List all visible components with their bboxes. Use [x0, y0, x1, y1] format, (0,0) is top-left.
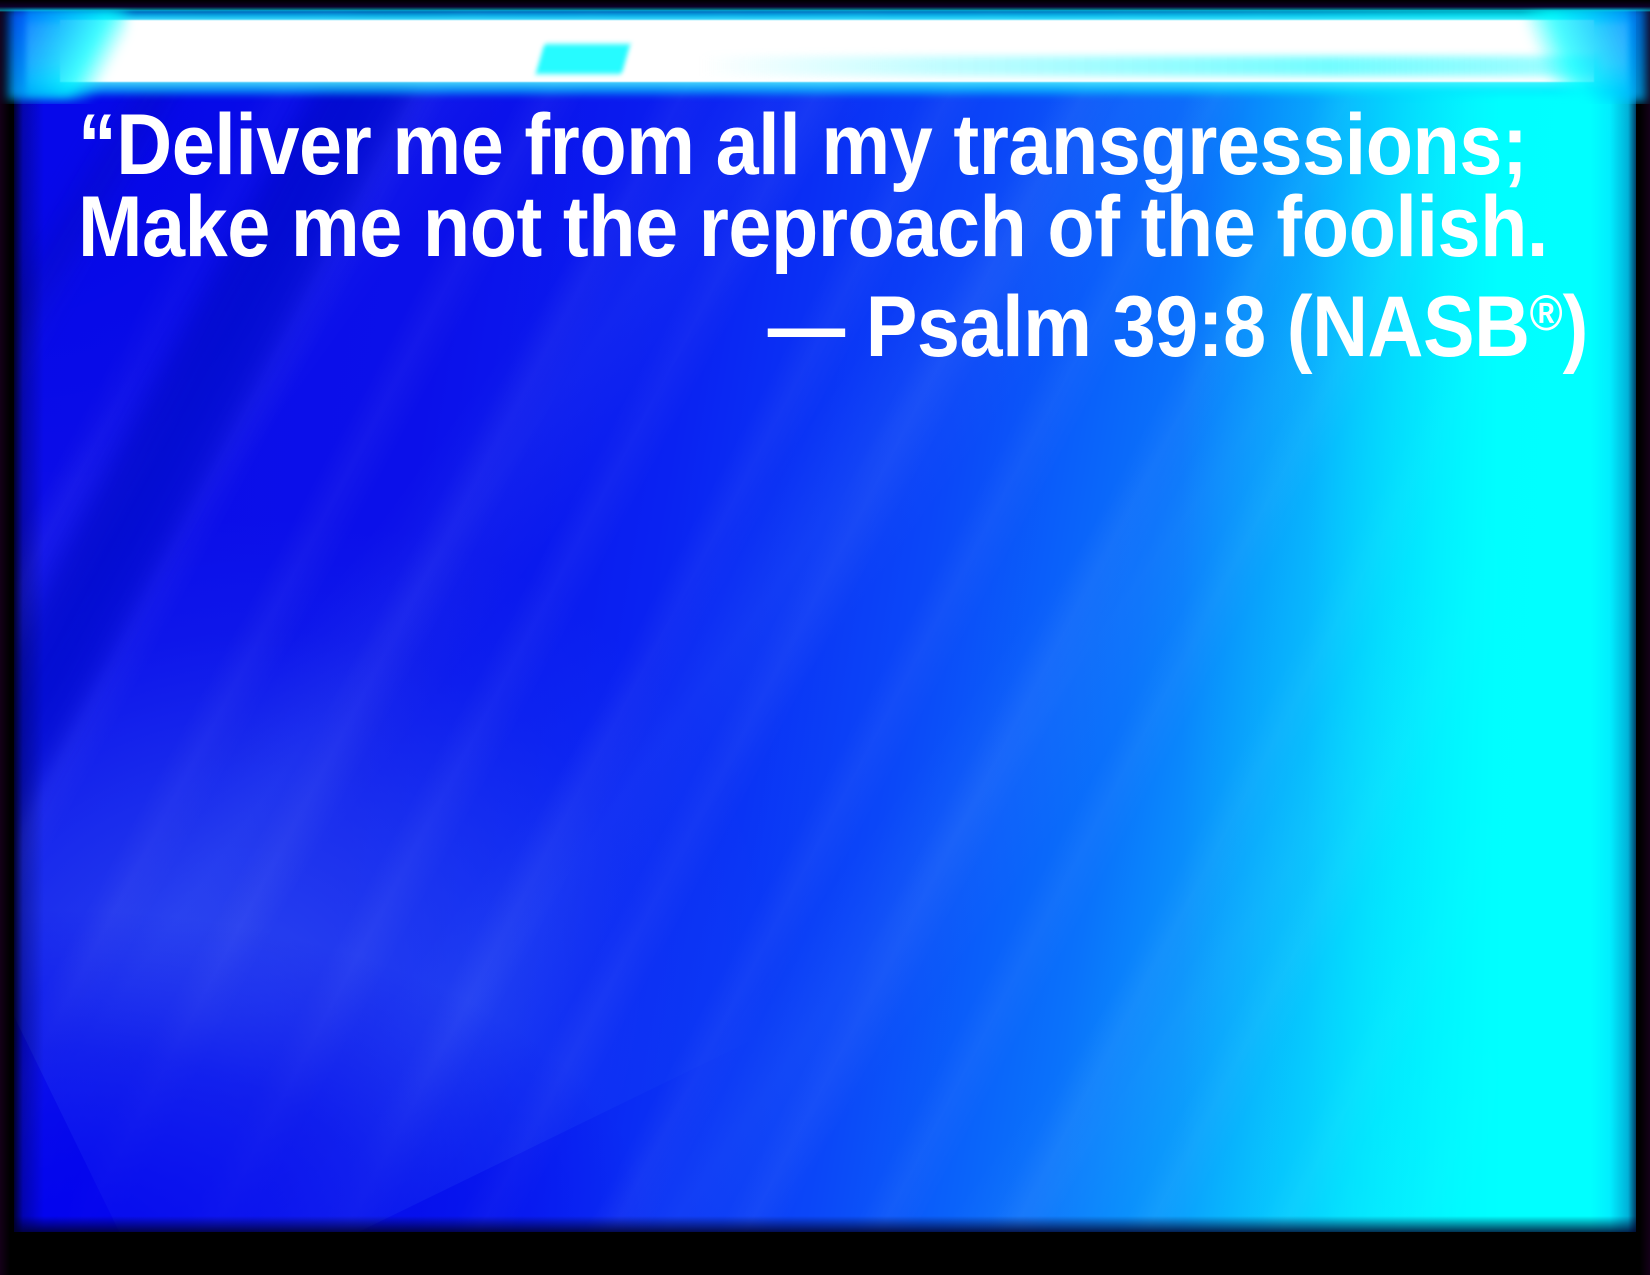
verse-slide: “Deliver me from all my transgressions; … — [0, 0, 1650, 1275]
top-edge-line — [0, 0, 1650, 12]
verse-line-2: Make me not the reproach of the foolish. — [78, 186, 1437, 268]
top-glow-cyan-streak — [700, 56, 1600, 76]
verse-attribution-suffix: ) — [1563, 279, 1588, 375]
top-glow-right-wedge — [1526, 6, 1646, 102]
verse-attribution: — Psalm 39:8 (NASB®) — [229, 268, 1588, 368]
top-glow-cyan-smear — [536, 44, 631, 74]
verse-text-block: “Deliver me from all my transgressions; … — [0, 104, 1650, 368]
verse-attribution-prefix: — Psalm 39:8 (NASB — [768, 279, 1530, 375]
top-glow-left-wedge — [8, 8, 128, 100]
registered-trademark-icon: ® — [1530, 285, 1563, 341]
top-glow-band — [0, 0, 1650, 104]
verse-line-1: “Deliver me from all my transgressions; — [78, 104, 1437, 186]
